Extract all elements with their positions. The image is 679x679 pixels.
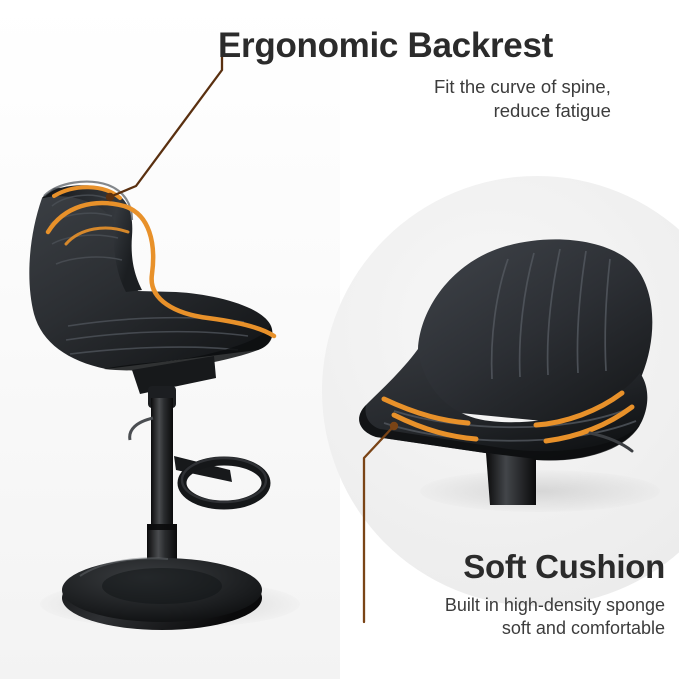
callout-cushion: Soft Cushion Built in high-density spong… xyxy=(375,548,665,640)
callout-cushion-title: Soft Cushion xyxy=(375,548,665,586)
gas-lift-upper-pole xyxy=(151,398,173,528)
callout-cushion-subtitle-line1: Built in high-density sponge xyxy=(375,594,665,617)
closeup-gas-lift-pole xyxy=(486,453,536,505)
chair-seat-closeup xyxy=(340,215,679,510)
callout-backrest: Ergonomic Backrest Fit the curve of spin… xyxy=(218,26,611,122)
base-disc-inner xyxy=(102,568,222,604)
product-infographic: Ergonomic Backrest Fit the curve of spin… xyxy=(0,0,679,679)
chair-side-view-svg xyxy=(8,78,338,638)
chair-seat-closeup-svg xyxy=(340,215,679,505)
footrest-ring xyxy=(174,456,266,505)
height-adjust-lever xyxy=(130,418,153,440)
callout-backrest-subtitle-line2: reduce fatigue xyxy=(434,99,611,123)
callout-backrest-subtitle-line1: Fit the curve of spine, xyxy=(434,75,611,99)
callout-backrest-title: Ergonomic Backrest xyxy=(218,26,611,66)
sleeve-collar xyxy=(147,524,177,530)
chair-side-view xyxy=(8,78,338,643)
callout-cushion-subtitle-line2: soft and comfortable xyxy=(375,617,665,640)
callout-backrest-subtitle: Fit the curve of spine, reduce fatigue xyxy=(218,75,611,122)
callout-cushion-subtitle: Built in high-density sponge soft and co… xyxy=(375,594,665,640)
